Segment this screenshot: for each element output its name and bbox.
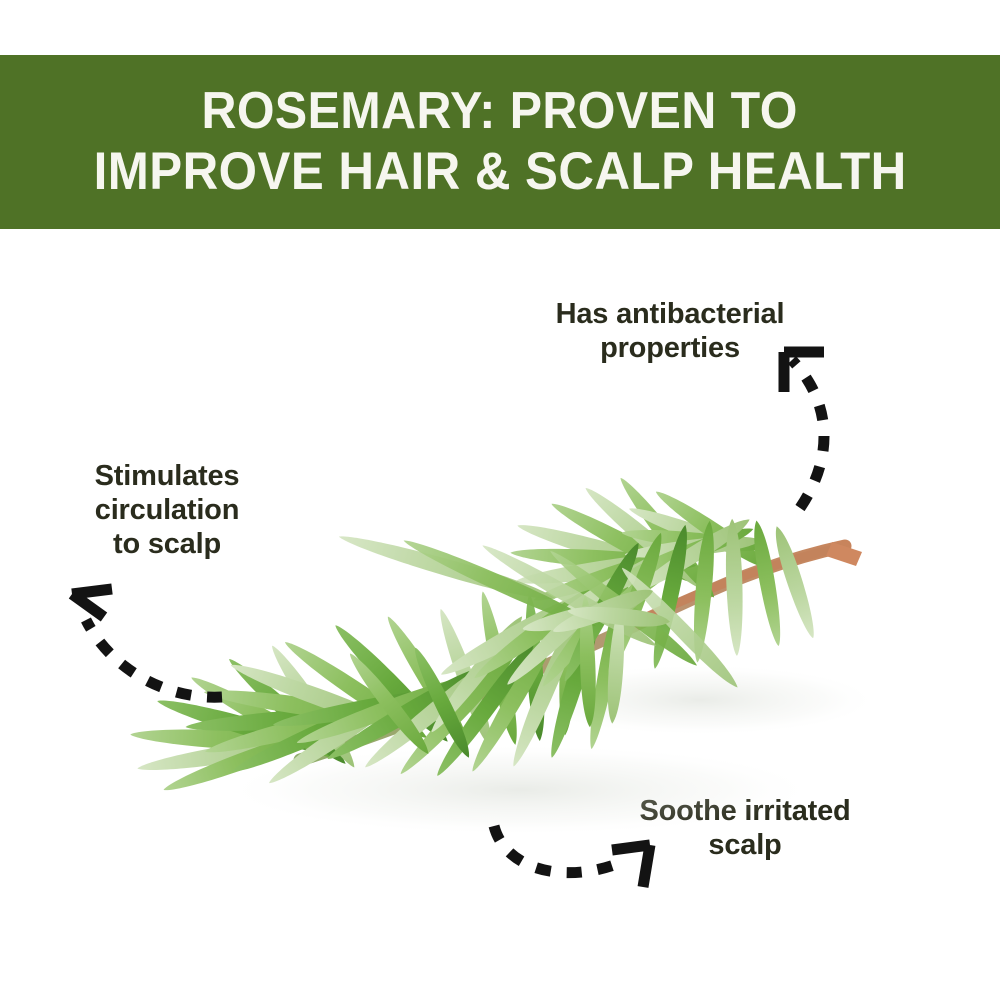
stem-woody-tip xyxy=(826,542,862,566)
callout-circulation-line-2: circulation xyxy=(42,494,292,528)
sprig-shadow-2 xyxy=(520,664,880,736)
page-title-line-2: IMPROVE HAIR & SCALP HEALTH xyxy=(93,141,906,203)
callout-soothe: Soothe irritated scalp xyxy=(590,795,900,863)
sprig-stem xyxy=(300,542,862,760)
callout-circulation: Stimulates circulation to scalp xyxy=(42,460,292,562)
infographic-page: ROSEMARY: PROVEN TO IMPROVE HAIR & SCALP… xyxy=(0,0,1000,1000)
callout-circulation-line-3: to scalp xyxy=(42,528,292,562)
callout-circulation-line-1: Stimulates xyxy=(42,460,292,494)
callout-antibacterial-line-1: Has antibacterial xyxy=(500,298,840,332)
callout-soothe-line-2: scalp xyxy=(590,829,900,863)
callout-antibacterial: Has antibacterial properties xyxy=(500,298,840,366)
arrow-antibacterial xyxy=(784,352,824,508)
page-title-line-1: ROSEMARY: PROVEN TO xyxy=(202,81,798,142)
arrow-circulation xyxy=(72,589,222,697)
header-banner: ROSEMARY: PROVEN TO IMPROVE HAIR & SCALP… xyxy=(0,55,1000,229)
callout-soothe-line-1: Soothe irritated xyxy=(590,795,900,829)
callout-antibacterial-line-2: properties xyxy=(500,332,840,366)
